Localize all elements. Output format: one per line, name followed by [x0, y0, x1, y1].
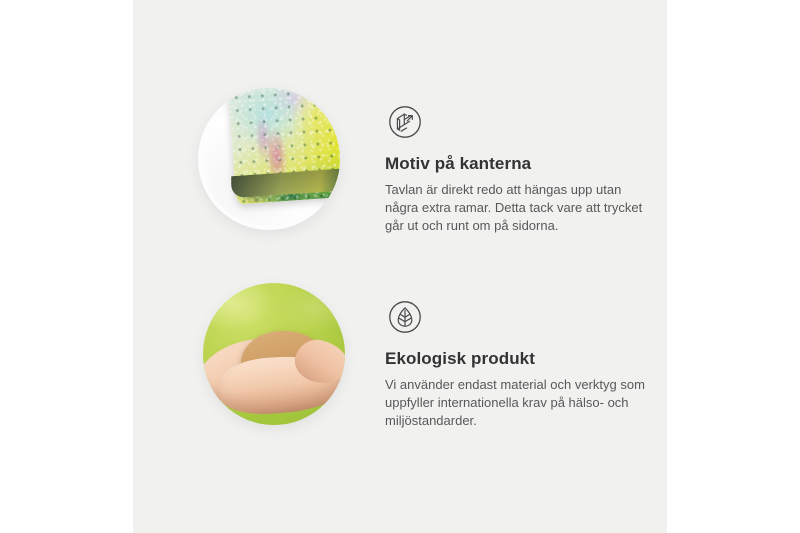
feature-title: Ekologisk produkt [385, 349, 653, 369]
feature-description: Vi använder endast material och verktyg … [385, 376, 647, 430]
product-feature-infographic: Motiv på kanterna Tavlan är direkt redo … [0, 0, 800, 533]
hands-holding-wood-chips-photo [203, 283, 345, 425]
right-white-band [667, 0, 800, 533]
feature-text-block: Ekologisk produkt Vi använder endast mat… [385, 297, 653, 430]
feature-description: Tavlan är direkt redo att hängas upp uta… [385, 181, 647, 235]
leaf-icon [385, 297, 425, 337]
feature-block-ekologisk-produkt: Ekologisk produkt Vi använder endast mat… [133, 283, 667, 425]
content-panel [133, 0, 667, 533]
feature-text-block: Motiv på kanterna Tavlan är direkt redo … [385, 102, 653, 235]
feature-title: Motiv på kanterna [385, 154, 653, 174]
left-white-band [0, 0, 133, 533]
canvas-wrapped-edges-icon [385, 102, 425, 142]
canvas-print-corner-photo [198, 88, 340, 230]
feature-block-motiv-pa-kanterna: Motiv på kanterna Tavlan är direkt redo … [133, 88, 667, 230]
